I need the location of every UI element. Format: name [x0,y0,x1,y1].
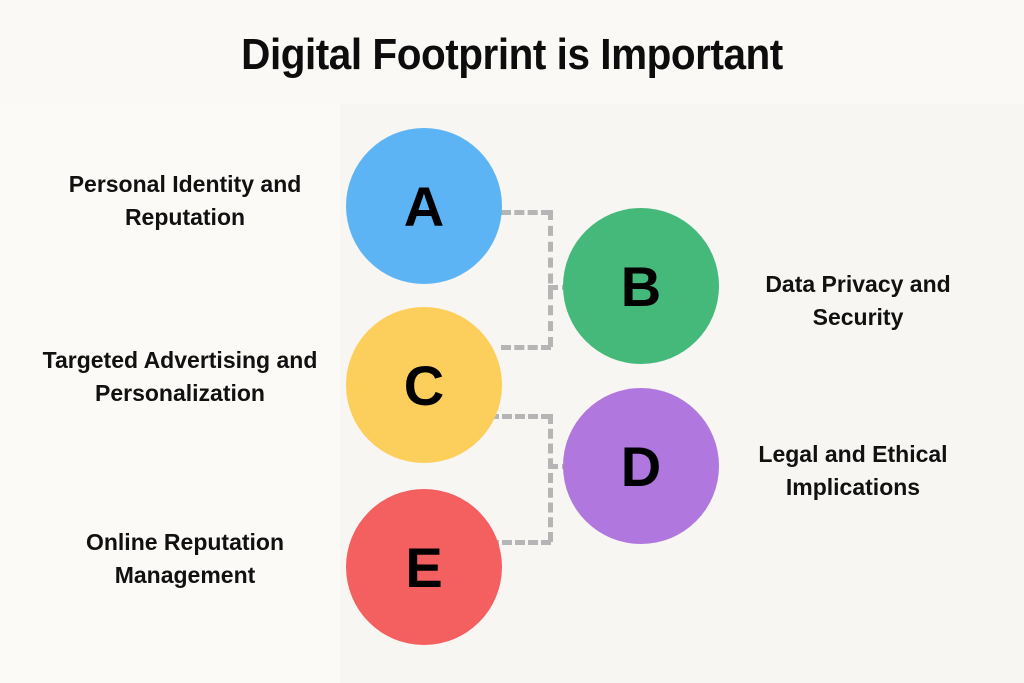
node-circle-d[interactable]: D [563,388,719,544]
node-label-a: Personal Identity and Reputation [35,168,335,235]
connector-c-to-bracket-upper [501,345,551,350]
node-label-e: Online Reputation Management [35,526,335,593]
connector-a-to-bracket-upper [501,210,551,215]
connector-c-to-bracket-lower [489,414,551,419]
connector-bracket-lower-spine [548,414,553,542]
page-title: Digital Footprint is Important [41,30,983,80]
diagram-canvas: Digital Footprint is Important A C E B D… [0,0,1024,683]
node-label-b: Data Privacy and Security [723,268,993,335]
connector-bracket-upper-spine [548,210,553,347]
node-circle-b[interactable]: B [563,208,719,364]
node-circle-e[interactable]: E [346,489,502,645]
node-label-d: Legal and Ethical Implications [718,438,988,505]
node-circle-a[interactable]: A [346,128,502,284]
node-label-c: Targeted Advertising and Personalization [30,344,330,411]
node-circle-c[interactable]: C [346,307,502,463]
